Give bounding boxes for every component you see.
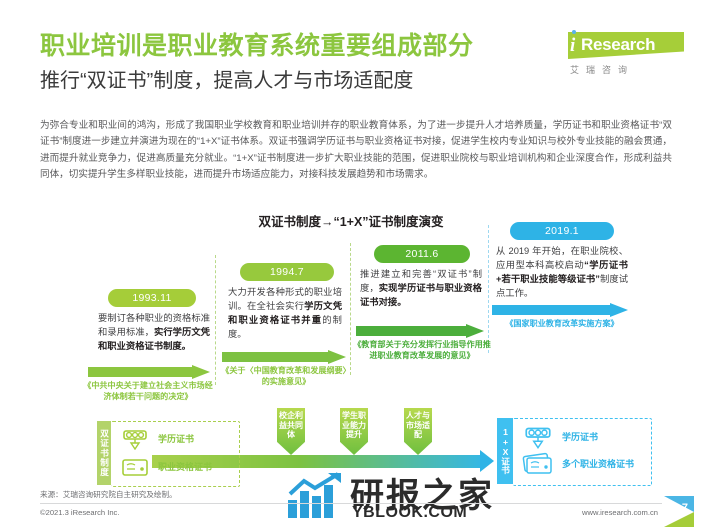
left-cert-label-1: 学历证书 bbox=[158, 434, 194, 445]
milestone-1-text: 要制订各种职业的资格标准和录用标准，实行学历文凭和职业资格证书制度。 bbox=[98, 311, 210, 353]
driver-badge-2: 学生职业能力提升 bbox=[340, 408, 368, 455]
slide-page: 职业培训是职业教育系统重要组成部分 推行“双证书”制度，提高人才与市场适配度 i… bbox=[0, 0, 702, 527]
watermark: 研报之家 YBLOOK.COM bbox=[286, 470, 576, 522]
page-number-badge: 7 bbox=[664, 496, 694, 527]
milestone-4-source: 《国家职业教育改革实施方案》 bbox=[488, 318, 636, 329]
left-cert-item-1: 学历证书 bbox=[120, 428, 194, 450]
left-group-label: 双证书制度 bbox=[97, 421, 111, 485]
milestone-1: 1993.11 要制订各种职业的资格标准和录用标准，实行学历文凭和职业资格证书制… bbox=[98, 289, 210, 353]
footer-divider bbox=[40, 503, 662, 504]
milestone-2-text: 大力开发各种形式的职业培训。在全社会实行学历文凭和职业资格证书并重的制度。 bbox=[228, 285, 342, 341]
watermark-en-text: YBLOOK.COM bbox=[352, 504, 467, 522]
left-cert-label-2: 职业资格证书 bbox=[158, 462, 212, 473]
page-number: 7 bbox=[682, 502, 688, 514]
logo-i: i bbox=[570, 35, 575, 57]
right-cert-label-2: 多个职业资格证书 bbox=[562, 459, 634, 470]
website-url: www.iresearch.com.cn bbox=[582, 508, 658, 517]
milestone-3-date: 2011.6 bbox=[374, 245, 470, 263]
certificate-card-icon bbox=[120, 456, 150, 478]
driver-badge-3: 人才与市场适配 bbox=[404, 408, 432, 455]
left-cert-item-2: 职业资格证书 bbox=[120, 456, 212, 478]
driver-badge-1: 校企利益共同体 bbox=[277, 408, 305, 455]
milestone-3: 2011.6 推进建立和完善“双证书”制度，实现学历证书与职业资格证书对接。 bbox=[360, 245, 482, 309]
milestone-4-date: 2019.1 bbox=[510, 222, 614, 240]
logo-wordmark: Research bbox=[581, 35, 655, 55]
milestone-4-text: 从 2019 年开始，在职业院校、应用型本科高校启动“学历证书+若干职业技能等级… bbox=[496, 244, 628, 300]
milestone-3-text: 推进建立和完善“双证书”制度，实现学历证书与职业资格证书对接。 bbox=[360, 267, 482, 309]
copyright: ©2021.3 iResearch Inc. bbox=[40, 508, 119, 517]
logo-dot-icon bbox=[572, 30, 576, 34]
diploma-icon bbox=[522, 425, 554, 449]
iresearch-logo: i Research 艾瑞咨询 bbox=[556, 32, 684, 78]
diploma-icon bbox=[120, 428, 150, 450]
milestone-4: 2019.1 从 2019 年开始，在职业院校、应用型本科高校启动“学历证书+若… bbox=[496, 222, 628, 300]
milestone-1-source: 《中共中央关于建立社会主义市场经济体制若干问题的决定》 bbox=[80, 380, 216, 402]
right-cert-item-1: 学历证书 bbox=[522, 425, 598, 449]
timeline-divider-1 bbox=[215, 255, 216, 385]
milestone-2-date: 1994.7 bbox=[240, 263, 334, 281]
milestone-3-arrow bbox=[356, 324, 486, 338]
source-note: 来源：艾瑞咨询研究院自主研究及绘制。 bbox=[40, 489, 177, 500]
timeline: 1993.11 要制订各种职业的资格标准和录用标准，实行学历文凭和职业资格证书制… bbox=[0, 225, 702, 410]
right-cert-label-1: 学历证书 bbox=[562, 432, 598, 443]
milestone-1-date: 1993.11 bbox=[108, 289, 196, 307]
milestone-4-arrow bbox=[492, 303, 632, 317]
milestone-1-arrow bbox=[88, 365, 210, 379]
milestone-2-arrow bbox=[222, 350, 348, 364]
body-paragraph: 为弥合专业和职业间的鸿沟，形成了我国职业学校教育和职业培训并存的职业教育体系，为… bbox=[40, 118, 672, 184]
timeline-divider-2 bbox=[350, 243, 351, 375]
watermark-logo-icon bbox=[288, 472, 346, 518]
milestone-2: 1994.7 大力开发各种形式的职业培训。在全社会实行学历文凭和职业资格证书并重… bbox=[228, 263, 342, 341]
milestone-3-source: 《教育部关于充分发挥行业指导作用推进职业教育改革发展的意见》 bbox=[352, 339, 492, 361]
milestone-2-source: 《关于〈中国教育改革和发展纲要〉的实施意见》 bbox=[218, 365, 354, 387]
logo-chinese-name: 艾瑞咨询 bbox=[570, 63, 634, 76]
timeline-divider-3 bbox=[488, 225, 489, 353]
